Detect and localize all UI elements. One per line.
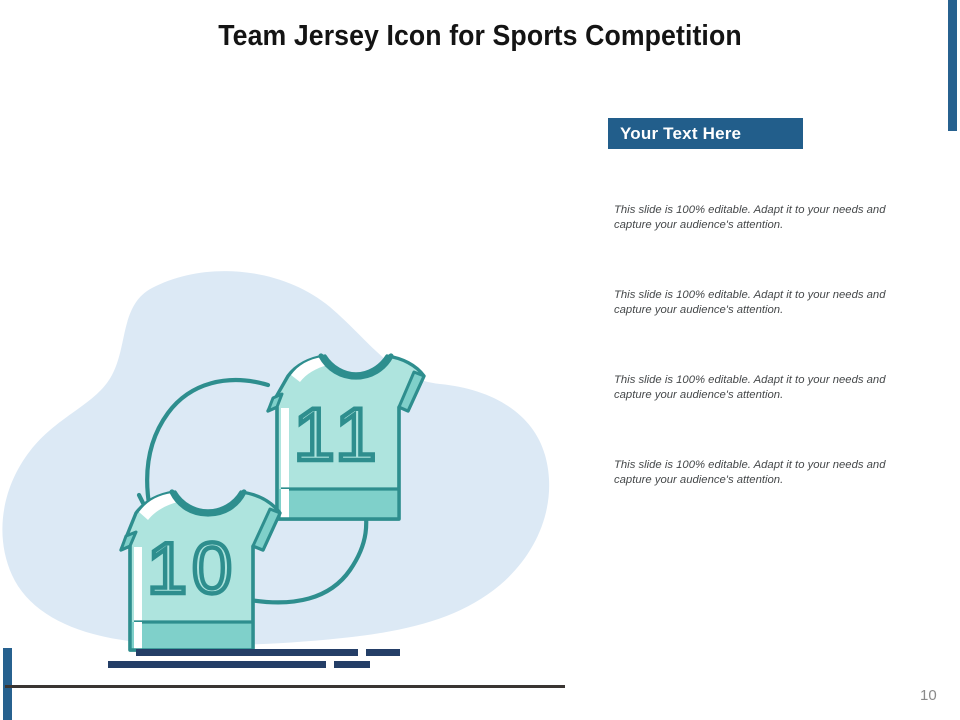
body-text-block-3: This slide is 100% editable. Adapt it to… xyxy=(614,373,918,403)
bottom-divider-rule xyxy=(5,685,565,688)
ground-bar-upper-b xyxy=(366,649,400,656)
jersey-back-11: 11 xyxy=(268,356,424,519)
body-text-block-2: This slide is 100% editable. Adapt it to… xyxy=(614,288,918,318)
ground-bar-lower-a xyxy=(108,661,326,668)
page-title: Team Jersey Icon for Sports Competition xyxy=(38,20,921,53)
body-text-block-1: This slide is 100% editable. Adapt it to… xyxy=(614,203,918,233)
jersey-11-number: 11 xyxy=(294,393,383,476)
jersey-11-hem-band xyxy=(277,489,399,519)
slide-canvas: Team Jersey Icon for Sports Competition xyxy=(0,0,960,720)
your-text-here-callout[interactable]: Your Text Here xyxy=(608,118,803,149)
ground-bars xyxy=(108,649,400,668)
ground-bar-lower-b xyxy=(334,661,370,668)
accent-bar-top-right xyxy=(948,0,957,131)
ground-bar-upper-a xyxy=(136,649,358,656)
body-text-block-4: This slide is 100% editable. Adapt it to… xyxy=(614,458,918,488)
jersey-10-number: 10 xyxy=(147,529,237,609)
jersey-10-hem-band xyxy=(130,622,253,650)
jersey-illustration: 11 10 xyxy=(0,255,580,685)
page-number: 10 xyxy=(920,687,937,704)
